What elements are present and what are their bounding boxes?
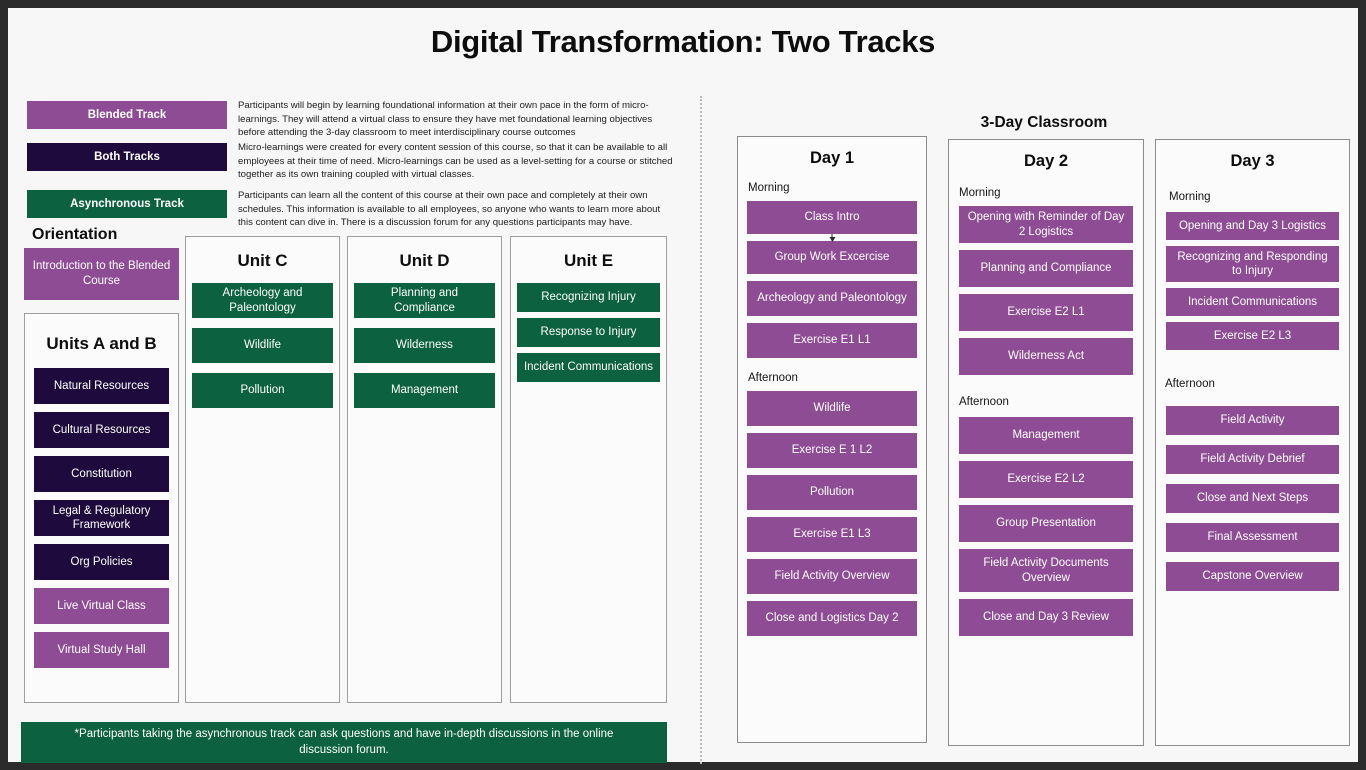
unit-item: Virtual Study Hall (34, 632, 169, 668)
unit-panel-unit-e: Unit E Recognizing Injury Response to In… (510, 236, 667, 703)
legend-row: Asynchronous Track Participants can lear… (19, 177, 679, 219)
unit-item: Legal & Regulatory Framework (34, 500, 169, 536)
unit-item: Management (354, 373, 495, 408)
unit-panel-title: Unit C (186, 251, 339, 271)
session-label-morning: Morning (1169, 191, 1349, 203)
legend-description-both-tracks: Micro-learnings were created for every c… (238, 141, 675, 182)
session-item: Archeology and Paleontology (747, 281, 917, 316)
unit-item: Wilderness (354, 328, 495, 363)
session-label-afternoon: Afternoon (748, 372, 926, 384)
session-item: Pollution (747, 475, 917, 510)
day-column-title: Day 1 (738, 149, 926, 168)
session-item: Final Assessment (1166, 523, 1339, 552)
unit-panel-title: Unit D (348, 251, 501, 271)
day-column-day-3: Day 3 Morning Opening and Day 3 Logistic… (1155, 139, 1350, 746)
down-arrow-icon (832, 234, 833, 241)
unit-item: Pollution (192, 373, 333, 408)
session-item: Incident Communications (1166, 288, 1339, 316)
session-item: Opening with Reminder of Day 2 Logistics (959, 206, 1133, 243)
asynchronous-track-footnote: *Participants taking the asynchronous tr… (21, 722, 667, 763)
legend-chip-both-tracks: Both Tracks (27, 143, 227, 171)
session-item: Opening and Day 3 Logistics (1166, 212, 1339, 240)
legend-description-asynchronous-track: Participants can learn all the content o… (238, 189, 675, 230)
unit-panel-unit-c: Unit C Archeology and Paleontology Wildl… (185, 236, 340, 703)
legend-row: Both Tracks Micro-learnings were created… (19, 135, 679, 177)
classroom-section-title: 3-Day Classroom (738, 114, 1350, 132)
session-item: Exercise E2 L1 (959, 294, 1133, 331)
session-label-morning: Morning (959, 187, 1143, 199)
session-item: Management (959, 417, 1133, 454)
unit-item: Recognizing Injury (517, 283, 660, 312)
session-item: Class Intro (747, 201, 917, 234)
unit-panel-units-a-and-b: Units A and B Natural Resources Cultural… (24, 313, 179, 703)
day-column-day-2: Day 2 Morning Opening with Reminder of D… (948, 139, 1144, 746)
session-item: Wilderness Act (959, 338, 1133, 375)
orientation-heading: Orientation (32, 226, 117, 244)
session-item: Group Presentation (959, 505, 1133, 542)
unit-item: Response to Injury (517, 318, 660, 347)
session-item: Planning and Compliance (959, 250, 1133, 287)
session-item: Field Activity Documents Overview (959, 549, 1133, 592)
day-column-day-1: Day 1 Morning Class Intro Group Work Exc… (737, 136, 927, 743)
session-item: Exercise E2 L3 (1166, 322, 1339, 350)
session-item: Wildlife (747, 391, 917, 426)
day-column-title: Day 2 (949, 152, 1143, 171)
day-column-title: Day 3 (1156, 152, 1349, 171)
unit-panel-title: Unit E (511, 251, 666, 271)
unit-item: Wildlife (192, 328, 333, 363)
legend-chip-blended-track: Blended Track (27, 101, 227, 129)
unit-item: Org Policies (34, 544, 169, 580)
legend-chip-asynchronous-track: Asynchronous Track (27, 190, 227, 218)
unit-item: Natural Resources (34, 368, 169, 404)
session-item: Exercise E2 L2 (959, 461, 1133, 498)
slide-canvas: Digital Transformation: Two Tracks Blend… (8, 8, 1358, 762)
session-item: Field Activity (1166, 406, 1339, 435)
unit-item: Archeology and Paleontology (192, 283, 333, 318)
page-title: Digital Transformation: Two Tracks (8, 24, 1358, 60)
session-item: Field Activity Debrief (1166, 445, 1339, 474)
session-item: Close and Next Steps (1166, 484, 1339, 513)
session-item: Group Work Excercise (747, 241, 917, 274)
session-item: Exercise E1 L3 (747, 517, 917, 552)
session-item: Exercise E 1 L2 (747, 433, 917, 468)
session-item: Recognizing and Responding to Injury (1166, 246, 1339, 282)
session-item: Capstone Overview (1166, 562, 1339, 591)
session-item: Exercise E1 L1 (747, 323, 917, 358)
legend-description-blended-track: Participants will begin by learning foun… (238, 99, 675, 140)
session-item: Close and Day 3 Review (959, 599, 1133, 636)
unit-item: Constitution (34, 456, 169, 492)
unit-panel-unit-d: Unit D Planning and Compliance Wildernes… (347, 236, 502, 703)
session-label-afternoon: Afternoon (959, 396, 1143, 408)
track-legend: Blended Track Participants will begin by… (19, 93, 679, 219)
session-label-afternoon: Afternoon (1165, 378, 1349, 390)
unit-item: Cultural Resources (34, 412, 169, 448)
orientation-item-intro-to-blended-course: Introduction to the Blended Course (24, 248, 179, 300)
vertical-dotted-divider (700, 96, 702, 764)
legend-row: Blended Track Participants will begin by… (19, 93, 679, 135)
session-label-morning: Morning (748, 182, 926, 194)
unit-panel-title: Units A and B (25, 334, 178, 354)
session-item: Field Activity Overview (747, 559, 917, 594)
session-item: Close and Logistics Day 2 (747, 601, 917, 636)
unit-item: Planning and Compliance (354, 283, 495, 318)
unit-item: Live Virtual Class (34, 588, 169, 624)
unit-item: Incident Communications (517, 353, 660, 382)
